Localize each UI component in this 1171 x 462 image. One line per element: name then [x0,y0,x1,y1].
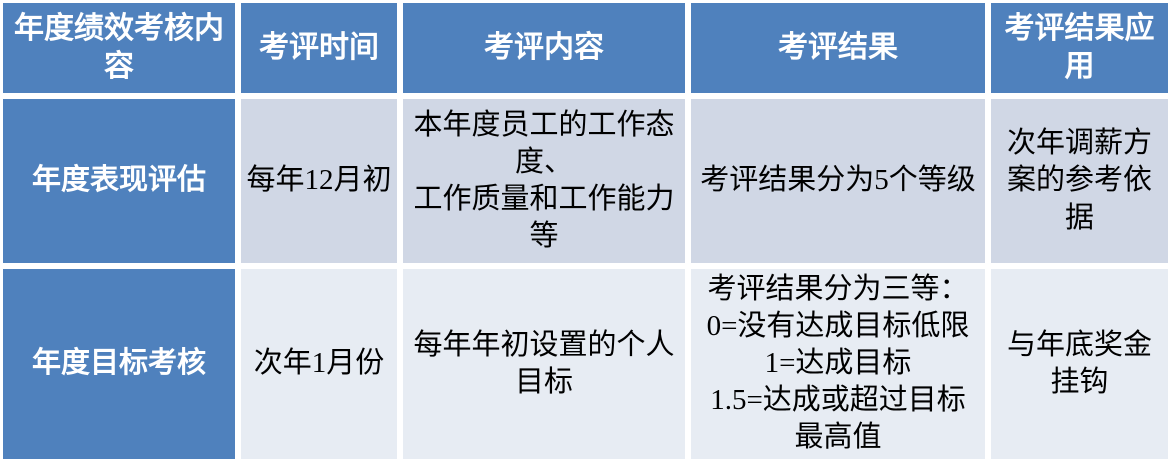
cell-apply: 与年底奖金挂钩 [988,266,1171,462]
cell-time: 每年12月初 [238,96,400,266]
column-header-apply: 考评结果应用 [988,0,1171,96]
slide-canvas: 年度绩效考核内容 考评时间 考评内容 考评结果 考评结果应用 年度表现评估 每年… [0,0,1171,462]
cell-content: 每年年初设置的个人目标 [400,266,688,462]
cell-category: 年度目标考核 [0,266,238,462]
column-header-result: 考评结果 [688,0,988,96]
cell-result: 考评结果分为三等： 0=没有达成目标低限 1=达成目标 1.5=达成或超过目标 … [688,266,988,462]
cell-content: 本年度员工的工作态度、 工作质量和工作能力等 [400,96,688,266]
table-row: 年度目标考核 次年1月份 每年年初设置的个人目标 考评结果分为三等： 0=没有达… [0,266,1171,462]
cell-apply: 次年调薪方案的参考依据 [988,96,1171,266]
cell-result: 考评结果分为5个等级 [688,96,988,266]
table-header-row: 年度绩效考核内容 考评时间 考评内容 考评结果 考评结果应用 [0,0,1171,96]
table-row: 年度表现评估 每年12月初 本年度员工的工作态度、 工作质量和工作能力等 考评结… [0,96,1171,266]
column-header-category: 年度绩效考核内容 [0,0,238,96]
column-header-time: 考评时间 [238,0,400,96]
column-header-content: 考评内容 [400,0,688,96]
cell-category: 年度表现评估 [0,96,238,266]
performance-review-table: 年度绩效考核内容 考评时间 考评内容 考评结果 考评结果应用 年度表现评估 每年… [0,0,1171,462]
cell-time: 次年1月份 [238,266,400,462]
